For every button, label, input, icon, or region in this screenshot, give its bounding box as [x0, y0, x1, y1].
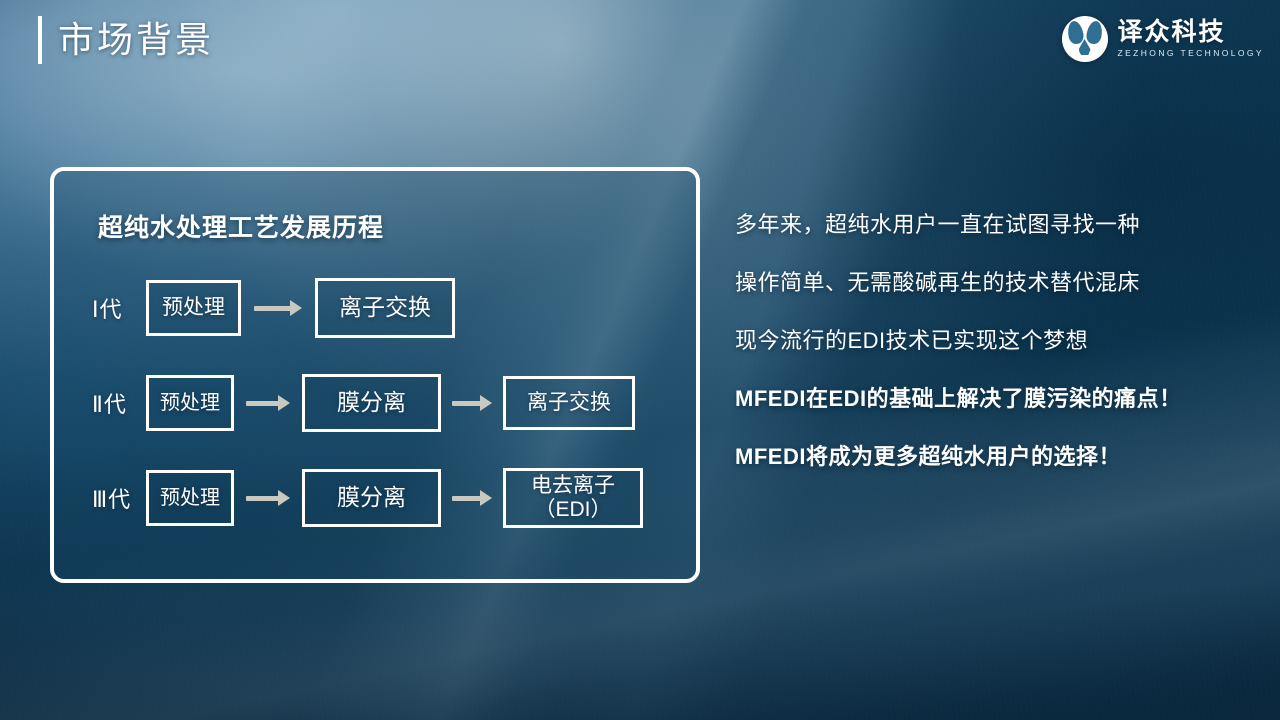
logo-text-block: 译众科技 ZEZHONG TECHNOLOGY	[1118, 20, 1264, 58]
arrow-head	[480, 490, 492, 506]
company-logo: 译众科技 ZEZHONG TECHNOLOGY	[1062, 16, 1264, 62]
arrow-head	[290, 300, 302, 316]
generation-label: Ⅲ代	[54, 482, 146, 514]
process-node[interactable]: 膜分离	[302, 374, 441, 432]
arrow-head	[278, 490, 290, 506]
flow-arrow-icon	[246, 493, 290, 503]
arrow-shaft	[254, 306, 291, 311]
droplet-shape-icon	[1079, 39, 1091, 56]
generation-label: Ⅱ代	[54, 387, 146, 419]
flow-arrow-icon	[452, 493, 492, 503]
process-node[interactable]: 离子交换	[315, 278, 455, 338]
logo-name-en: ZEZHONG TECHNOLOGY	[1118, 49, 1264, 58]
generation-label: Ⅰ代	[54, 292, 146, 324]
flow-arrow-icon	[246, 398, 290, 408]
logo-name-cn: 译众科技	[1118, 20, 1264, 45]
slide-canvas: 市场背景 译众科技 ZEZHONG TECHNOLOGY 超纯水处理工艺发展历程…	[0, 0, 1280, 720]
process-node[interactable]: 预处理	[146, 375, 234, 431]
arrow-shaft	[246, 496, 279, 501]
page-title: 市场背景	[58, 22, 214, 58]
arrow-head	[480, 395, 492, 411]
arrow-shaft	[452, 401, 481, 406]
flow-row: Ⅰ代 预处理 离子交换	[54, 275, 696, 341]
process-node[interactable]: 离子交换	[503, 376, 635, 430]
arrow-shaft	[452, 496, 481, 501]
note-line: MFEDI在EDI的基础上解决了膜污染的痛点！	[735, 388, 1255, 410]
note-line: MFEDI将成为更多超纯水用户的选择！	[735, 446, 1255, 468]
note-line: 操作简单、无需酸碱再生的技术替代混床	[735, 272, 1255, 294]
flow-arrow-icon	[254, 303, 302, 313]
title-accent-bar	[38, 16, 42, 64]
market-notes: 多年来，超纯水用户一直在试图寻找一种 操作简单、无需酸碱再生的技术替代混床 现今…	[735, 214, 1255, 468]
note-line: 多年来，超纯水用户一直在试图寻找一种	[735, 214, 1255, 236]
flow-arrow-icon	[452, 398, 492, 408]
note-line: 现今流行的EDI技术已实现这个梦想	[735, 330, 1255, 352]
slide-header: 市场背景	[38, 16, 214, 64]
flow-row: Ⅲ代 预处理 膜分离 电去离子 （EDI）	[54, 465, 696, 531]
water-droplet-icon	[1062, 16, 1108, 62]
flow-row: Ⅱ代 预处理 膜分离 离子交换	[54, 370, 696, 436]
process-node[interactable]: 预处理	[146, 470, 234, 526]
process-node[interactable]: 电去离子 （EDI）	[503, 468, 643, 528]
process-node[interactable]: 预处理	[146, 280, 241, 336]
process-evolution-panel: 超纯水处理工艺发展历程 Ⅰ代 预处理 离子交换 Ⅱ代	[50, 167, 700, 583]
flow-rows: Ⅰ代 预处理 离子交换 Ⅱ代 预处理	[54, 275, 696, 531]
arrow-head	[278, 395, 290, 411]
process-node[interactable]: 膜分离	[302, 469, 441, 527]
panel-title: 超纯水处理工艺发展历程	[98, 208, 384, 244]
arrow-shaft	[246, 401, 279, 406]
